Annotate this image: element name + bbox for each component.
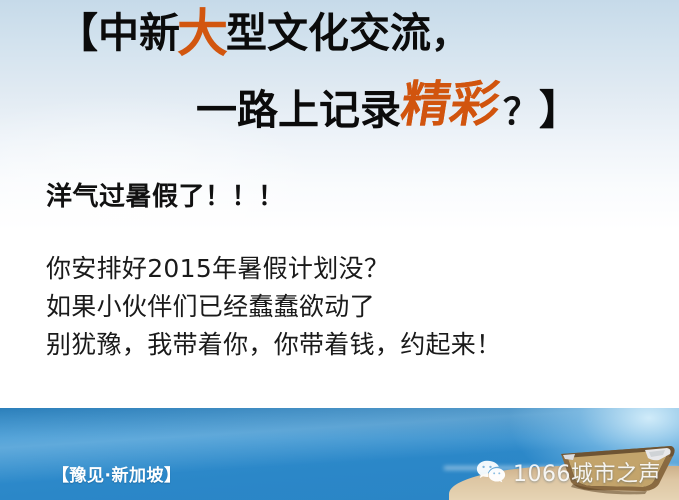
headline-line1-plain-a: 中新 <box>98 9 180 57</box>
headline-line-2: 一路上记录精彩？】 <box>196 83 580 132</box>
headline-bracket-open: 【 <box>57 9 98 57</box>
headline-line-1: 【中新大型文化交流， <box>57 13 469 54</box>
headline-bracket-close: 】 <box>539 86 580 134</box>
headline-line1-plain-b: 型文化交流 <box>226 9 431 57</box>
body-paragraph-line: 如果小伙伴们已经蠢蠢欲动了 <box>46 288 501 326</box>
headline-comma: ， <box>431 12 469 56</box>
headline-accent-da: 大 <box>177 5 228 64</box>
wechat-icon <box>476 459 506 485</box>
headline-line2-plain-a: 一路上记录 <box>196 86 401 134</box>
headline-accent-jingcai: 精彩 <box>398 80 504 129</box>
poster-canvas: 【中新大型文化交流， 一路上记录精彩？】 洋气过暑假了！！！ 你安排好2015年… <box>0 0 679 500</box>
body-paragraph-line: 你安排好2015年暑假计划没？ <box>46 250 501 288</box>
body-subheading: 洋气过暑假了！！！ <box>46 176 285 213</box>
body-paragraph: 你安排好2015年暑假计划没？ 如果小伙伴们已经蠢蠢欲动了 别犹豫，我带着你，你… <box>46 250 501 364</box>
body-paragraph-line: 别犹豫，我带着你，你带着钱，约起来！ <box>46 326 501 364</box>
brand-watermark: 1066城市之声 <box>476 456 661 488</box>
brand-name-label: 1066城市之声 <box>513 456 661 488</box>
headline-question-mark: ？ <box>503 92 539 133</box>
program-label: 【豫见·新加坡】 <box>52 461 181 486</box>
